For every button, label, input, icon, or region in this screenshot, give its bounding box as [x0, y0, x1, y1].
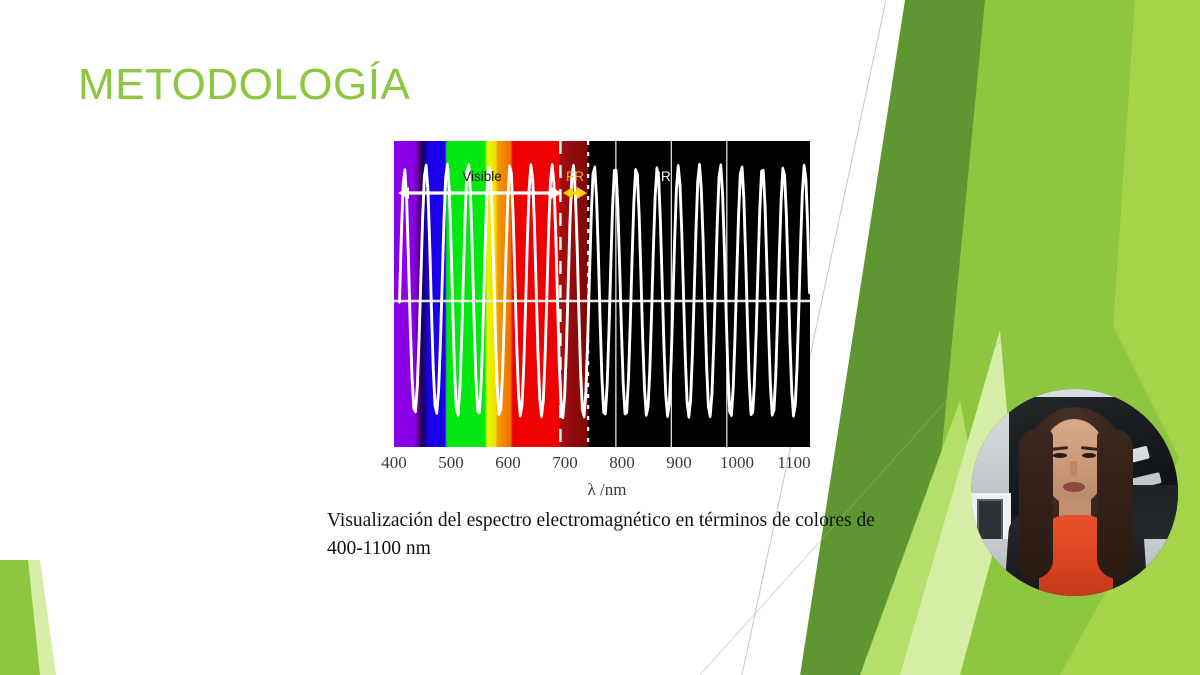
presenter-hair-strand-right: [1097, 429, 1133, 579]
presenter-eye-right: [1082, 453, 1096, 458]
presenter-hair-strand-left: [1019, 429, 1053, 579]
presenter-eye-left: [1053, 453, 1067, 458]
spectrum-annotation-layer: [394, 141, 810, 447]
tick-800: 800: [609, 453, 635, 473]
label-infrared: IR: [657, 169, 671, 184]
visible-range-arrow: [398, 187, 562, 199]
tick-1100: 1100: [777, 453, 810, 473]
x-axis-title: λ /nm: [327, 480, 887, 500]
spectrum-figure: Visible FR IR 400 500 600 700 800 900 10…: [327, 135, 887, 555]
tick-400: 400: [381, 453, 407, 473]
tick-600: 600: [495, 453, 521, 473]
deco-shape-bottom-left-pale: [28, 560, 56, 675]
tick-900: 900: [666, 453, 692, 473]
figure-caption: Visualización del espectro electromagnét…: [327, 507, 887, 564]
presenter-nose: [1070, 461, 1077, 477]
deco-shape-bottom-left-wedge: [0, 560, 46, 675]
tick-1000: 1000: [720, 453, 754, 473]
tick-700: 700: [552, 453, 578, 473]
presenter-video-bubble[interactable]: [971, 389, 1178, 596]
presentation-slide: METODOLOGÍA: [0, 0, 1200, 675]
page-title: METODOLOGÍA: [78, 62, 410, 108]
tick-500: 500: [438, 453, 464, 473]
label-far-red: FR: [566, 169, 584, 184]
presenter-mouth: [1063, 482, 1085, 492]
spectrum-plot: Visible FR IR: [394, 141, 810, 447]
x-axis-tick-labels: 400 500 600 700 800 900 1000 1100: [327, 453, 887, 477]
far-red-range-arrow: [563, 187, 587, 199]
label-visible: Visible: [462, 169, 502, 184]
